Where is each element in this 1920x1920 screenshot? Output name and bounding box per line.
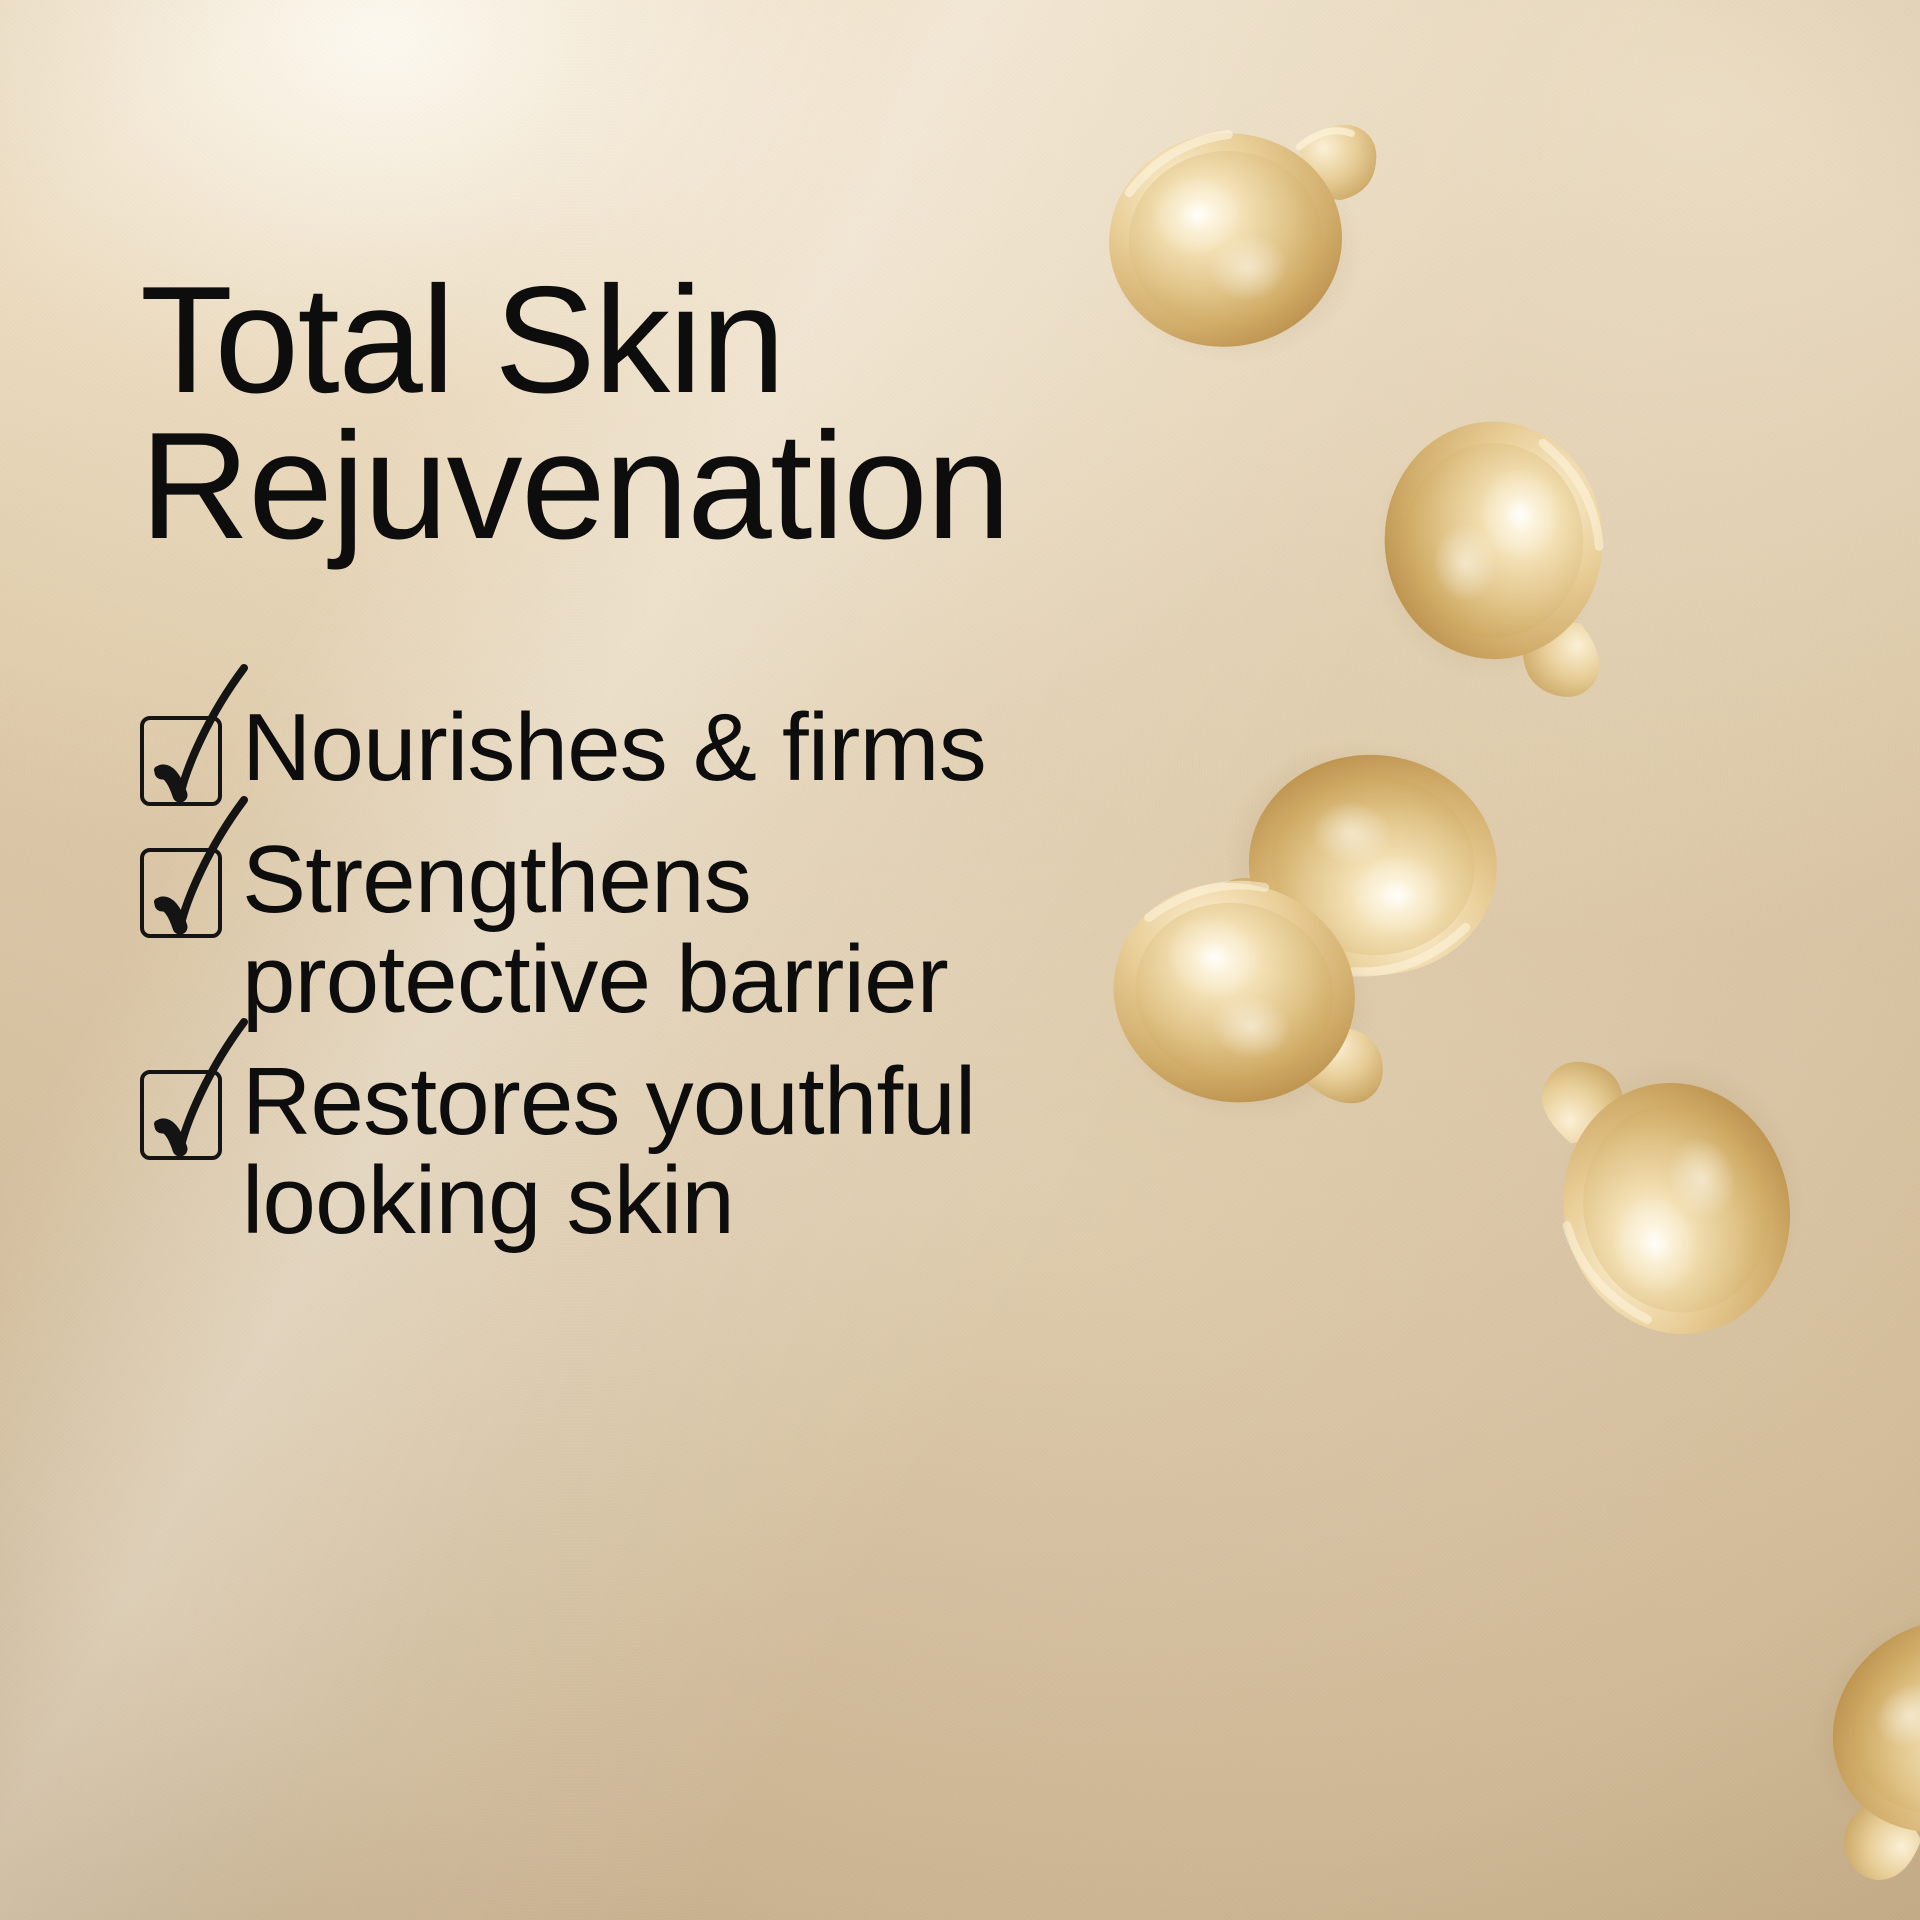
- marketing-card: Total Skin Rejuvenation Nourishes & firm…: [0, 0, 1920, 1920]
- page-title: Total Skin Rejuvenation: [140, 268, 1150, 560]
- list-item-label: Restores youthful looking skin: [242, 1052, 975, 1252]
- list-item-label: Strengthens protective barrier: [242, 830, 948, 1030]
- list-item: Strengthens protective barrier: [140, 830, 1150, 1030]
- content-column: Total Skin Rejuvenation Nourishes & firm…: [140, 268, 1150, 560]
- list-item-label: Nourishes & firms: [242, 698, 986, 798]
- list-item: Nourishes & firms: [140, 698, 1150, 808]
- list-item: Restores youthful looking skin: [140, 1052, 1150, 1252]
- benefits-list: Nourishes & firms Strengthens protective…: [140, 698, 1150, 1251]
- checkbox-checked-icon: [140, 844, 226, 940]
- checkbox-checked-icon: [140, 1066, 226, 1162]
